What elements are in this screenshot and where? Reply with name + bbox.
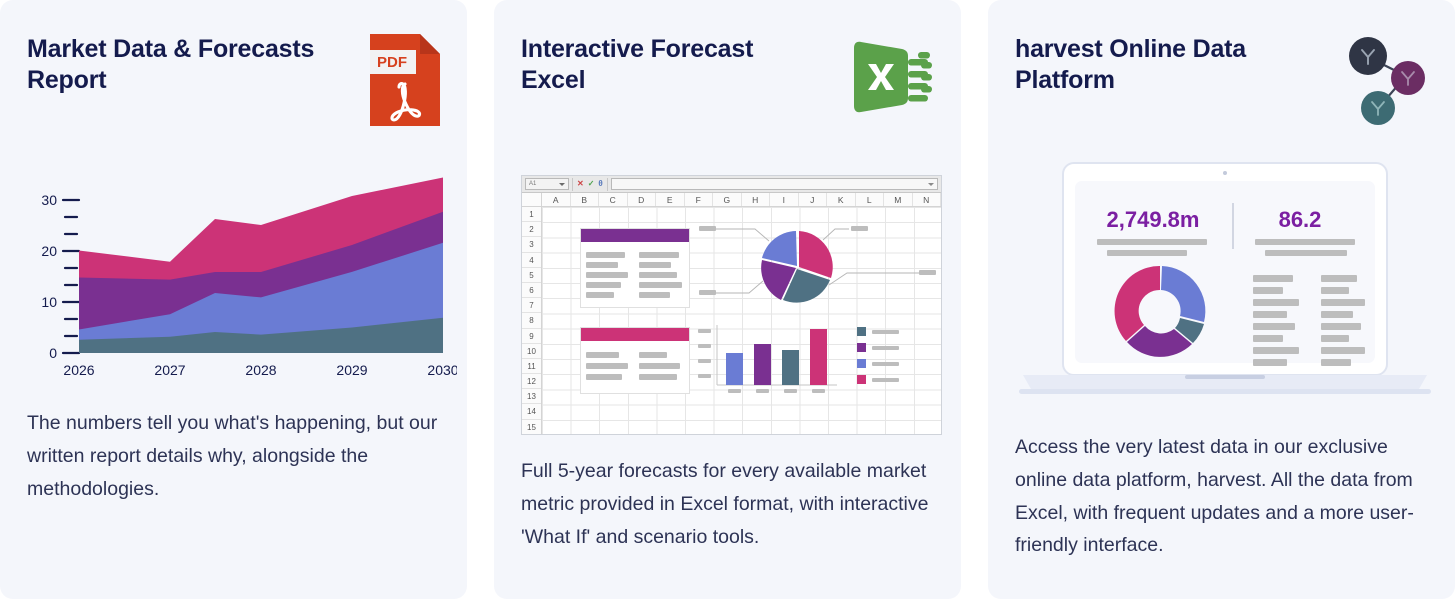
column-header-j[interactable]: J [799, 193, 828, 206]
column-header-c[interactable]: C [599, 193, 628, 206]
skeleton-line [1253, 335, 1283, 342]
row-header-9[interactable]: 9 [522, 329, 541, 344]
row-header-7[interactable]: 7 [522, 298, 541, 313]
card-description: Access the very latest data in our exclu… [1015, 431, 1428, 562]
skeleton-line [586, 363, 628, 369]
pie-label-placeholder [919, 270, 936, 275]
skeleton-line [639, 352, 667, 358]
pie-slice-pink [799, 231, 833, 278]
column-header-row: A B C D E F G H I J K L M N [522, 193, 941, 207]
legend-swatch-blue [857, 359, 866, 368]
spreadsheet-grid[interactable]: 1 2 3 4 5 6 7 8 9 10 11 12 13 14 15 [522, 207, 941, 435]
skeleton-line [639, 363, 681, 369]
skeleton-line [1321, 347, 1365, 354]
skeleton-line [586, 252, 625, 258]
skeleton-line [1253, 275, 1293, 282]
x-tick-2026: 2026 [63, 362, 94, 378]
y-tick-30: 30 [41, 192, 57, 208]
bar-4 [810, 329, 827, 385]
column-header-k[interactable]: K [827, 193, 856, 206]
chevron-down-icon[interactable] [559, 183, 565, 186]
table-accent-bar-pink [581, 328, 689, 341]
row-header-5[interactable]: 5 [522, 268, 541, 283]
bar-axis-label-placeholder [698, 329, 711, 333]
skeleton-line [1321, 287, 1349, 294]
skeleton-line [586, 262, 618, 268]
embedded-pie-chart [697, 215, 937, 325]
skeleton-line [1253, 347, 1299, 354]
bar-1 [726, 353, 743, 385]
skeleton-line [1253, 323, 1295, 330]
name-box[interactable]: A1 [525, 178, 569, 190]
legend-label-placeholder [872, 362, 899, 366]
column-header-m[interactable]: M [884, 193, 913, 206]
laptop-foot [1019, 389, 1431, 394]
card-market-data-forecasts-report[interactable]: Market Data & Forecasts Report PDF [0, 0, 467, 599]
y-tick-20: 20 [41, 243, 57, 259]
skeleton-line [1321, 275, 1357, 282]
bar-axis-label-placeholder [698, 344, 711, 348]
skeleton-line [639, 272, 677, 278]
card-title: Market Data & Forecasts Report [27, 34, 327, 95]
legend-label-placeholder [872, 378, 899, 382]
skeleton-line [1321, 323, 1361, 330]
mock-data-table-top [580, 228, 690, 308]
bar-tick-placeholder [812, 389, 825, 393]
bar-tick-placeholder [728, 389, 741, 393]
card-header: harvest Online Data Platform [1015, 34, 1428, 131]
feature-cards-row: Market Data & Forecasts Report PDF [0, 0, 1455, 599]
bar-axis-label-placeholder [698, 359, 711, 363]
skeleton-line [1253, 311, 1287, 318]
formula-bar[interactable] [611, 178, 938, 190]
legend-label-placeholder [872, 330, 899, 334]
legend-swatch-purple [857, 343, 866, 352]
laptop-dashboard-mockup: 2,749.8m 86.2 [1015, 161, 1435, 411]
column-header-n[interactable]: N [913, 193, 942, 206]
skeleton-line [1321, 359, 1351, 366]
laptop-notch [1185, 375, 1265, 379]
x-tick-2030: 2030 [427, 362, 457, 378]
column-header-h[interactable]: H [742, 193, 771, 206]
pie-label-placeholder [699, 226, 716, 231]
formula-action-icons: ✕ ✓ θ [572, 178, 608, 191]
row-header-1[interactable]: 1 [522, 207, 541, 222]
skeleton-line [1107, 250, 1187, 256]
row-header-2[interactable]: 2 [522, 222, 541, 237]
webcam-dot [1223, 171, 1227, 175]
skeleton-line [1253, 359, 1287, 366]
metric-value-secondary: 86.2 [1279, 207, 1322, 232]
y-tick-10: 10 [41, 294, 57, 310]
cancel-x-icon[interactable]: ✕ [577, 180, 584, 188]
card-harvest-online-data-platform[interactable]: harvest Online Data Platform [988, 0, 1455, 599]
legend-swatch-pink [857, 375, 866, 384]
skeleton-line [586, 374, 622, 380]
card-description: Full 5-year forecasts for every availabl… [521, 455, 934, 553]
skeleton-line [586, 292, 614, 298]
column-header-i[interactable]: I [770, 193, 799, 206]
table-accent-bar-purple [581, 229, 689, 242]
row-header-13[interactable]: 13 [522, 389, 541, 404]
column-header-l[interactable]: L [856, 193, 885, 206]
embedded-bar-chart [697, 317, 937, 399]
name-box-value: A1 [529, 181, 536, 187]
bar-tick-placeholder [756, 389, 769, 393]
column-header-d[interactable]: D [628, 193, 657, 206]
chevron-down-icon[interactable] [928, 183, 934, 186]
bar-3 [782, 350, 799, 385]
confirm-check-icon[interactable]: ✓ [588, 180, 595, 188]
skeleton-line [586, 282, 621, 288]
skeleton-line [1255, 239, 1355, 245]
pie-label-placeholder [699, 290, 716, 295]
skeleton-line [1321, 335, 1349, 342]
skeleton-line [1097, 239, 1207, 245]
card-header: Market Data & Forecasts Report PDF [27, 34, 440, 131]
bar-tick-placeholder [784, 389, 797, 393]
metric-value-primary: 2,749.8m [1107, 207, 1200, 232]
skeleton-line [639, 374, 678, 380]
row-header-15[interactable]: 15 [522, 420, 541, 435]
row-header-10[interactable]: 10 [522, 344, 541, 359]
bar-2 [754, 344, 771, 385]
mock-data-table-bottom [580, 327, 690, 394]
row-header-column: 1 2 3 4 5 6 7 8 9 10 11 12 13 14 15 [522, 207, 542, 435]
card-title: Interactive Forecast Excel [521, 34, 821, 95]
excel-file-icon [846, 34, 934, 125]
select-all-corner[interactable] [522, 193, 542, 206]
excel-spreadsheet-mockup[interactable]: A1 ✕ ✓ θ A B C D E F [521, 175, 942, 435]
spreadsheet-toolbar: A1 ✕ ✓ θ [522, 176, 941, 193]
card-header: Interactive Forecast Excel [521, 34, 934, 125]
skeleton-line [639, 252, 680, 258]
skeleton-line [1253, 287, 1283, 294]
pie-slice-blue [762, 231, 797, 266]
card-description: The numbers tell you what's happening, b… [27, 407, 440, 505]
skeleton-line [586, 272, 628, 278]
row-header-11[interactable]: 11 [522, 359, 541, 374]
skeleton-line [639, 262, 672, 268]
function-fx-icon[interactable]: θ [598, 180, 602, 188]
row-header-3[interactable]: 3 [522, 237, 541, 252]
row-header-8[interactable]: 8 [522, 313, 541, 328]
column-header-a[interactable]: A [542, 193, 571, 206]
row-header-12[interactable]: 12 [522, 374, 541, 389]
pdf-file-icon: PDF [370, 34, 440, 131]
cell-area[interactable] [542, 207, 941, 435]
card-interactive-forecast-excel[interactable]: Interactive Forecast Excel [494, 0, 961, 599]
column-header-e[interactable]: E [656, 193, 685, 206]
row-header-14[interactable]: 14 [522, 404, 541, 419]
bar-axis-label-placeholder [698, 374, 711, 378]
network-nodes-icon [1340, 34, 1428, 131]
column-header-b[interactable]: B [571, 193, 600, 206]
legend-swatch-teal [857, 327, 866, 336]
x-tick-2028: 2028 [245, 362, 276, 378]
row-header-4[interactable]: 4 [522, 253, 541, 268]
legend-label-placeholder [872, 346, 899, 350]
pdf-icon-label: PDF [377, 54, 407, 71]
skeleton-line [1253, 299, 1299, 306]
x-tick-2029: 2029 [336, 362, 367, 378]
skeleton-line [639, 282, 682, 288]
column-header-f[interactable]: F [685, 193, 714, 206]
skeleton-line [586, 352, 619, 358]
card-title: harvest Online Data Platform [1015, 34, 1315, 95]
skeleton-line [639, 292, 671, 298]
pie-label-placeholder [851, 226, 868, 231]
y-tick-0: 0 [49, 345, 57, 361]
bar-chart-legend [857, 327, 899, 384]
skeleton-line [1321, 311, 1353, 318]
skeleton-line [1321, 299, 1365, 306]
column-header-g[interactable]: G [713, 193, 742, 206]
skeleton-line [1265, 250, 1347, 256]
market-forecast-area-chart: 0 10 20 30 2026 2027 [27, 165, 440, 387]
row-header-6[interactable]: 6 [522, 283, 541, 298]
x-tick-2027: 2027 [154, 362, 185, 378]
